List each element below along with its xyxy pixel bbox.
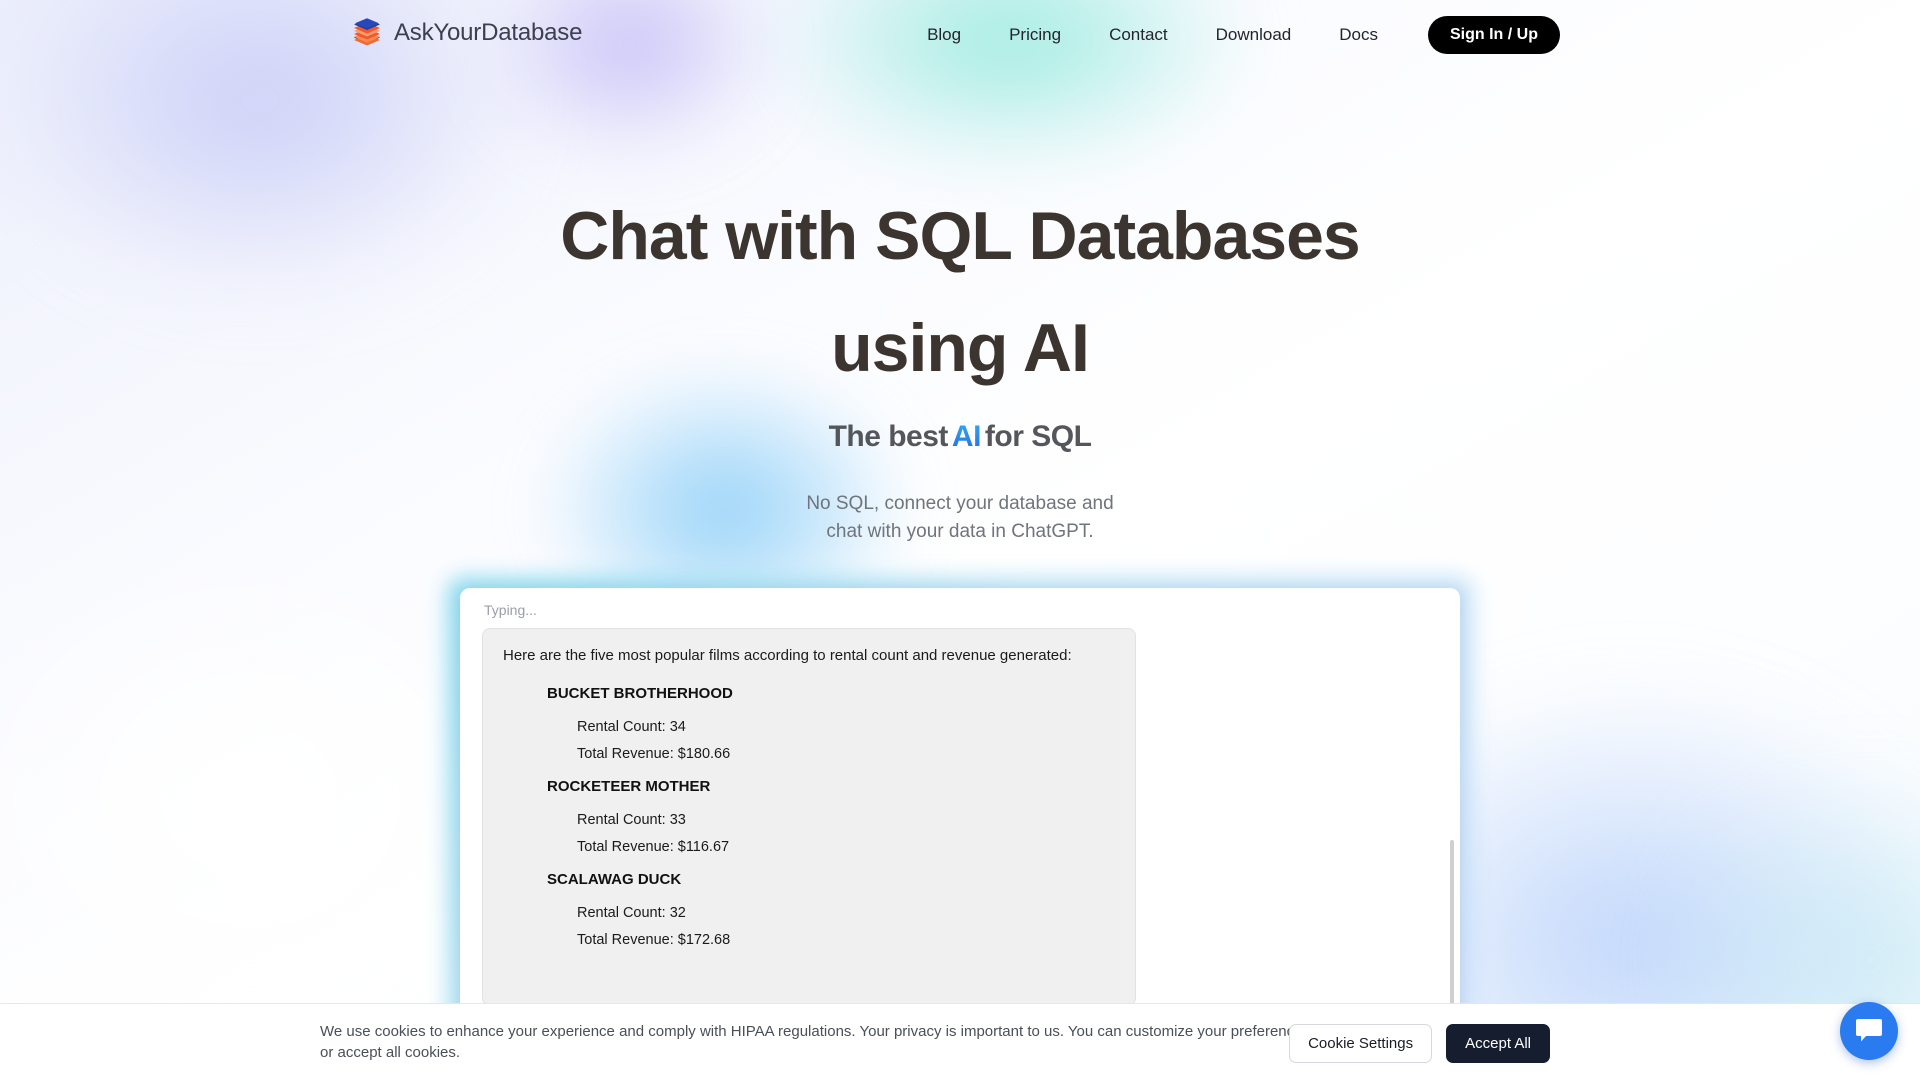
- film-result-item: BUCKET BROTHERHOOD Rental Count: 34 Tota…: [503, 685, 1115, 768]
- sign-in-up-button[interactable]: Sign In / Up: [1428, 16, 1560, 54]
- hero-tagline: The bestAIfor SQL: [0, 420, 1920, 454]
- film-rental-count: Rental Count: 33: [577, 807, 1115, 834]
- film-rental-count: Rental Count: 34: [577, 714, 1115, 741]
- film-title: ROCKETEER MOTHER: [547, 778, 1115, 795]
- hero-tagline-accent: AI: [948, 420, 985, 453]
- site-header: AskYourDatabase Blog Pricing Contact Dow…: [0, 0, 1920, 70]
- cookie-consent-actions: Cookie Settings Accept All: [1289, 1024, 1550, 1063]
- film-result-item: ROCKETEER MOTHER Rental Count: 33 Total …: [503, 778, 1115, 861]
- film-total-revenue: Total Revenue: $116.67: [577, 834, 1115, 861]
- film-result-item: SCALAWAG DUCK Rental Count: 32 Total Rev…: [503, 871, 1115, 954]
- page-title: Chat with SQL Databases using AI: [0, 180, 1920, 404]
- cookie-settings-button[interactable]: Cookie Settings: [1289, 1024, 1432, 1063]
- page-root: AskYourDatabase Blog Pricing Contact Dow…: [0, 0, 1920, 1080]
- assistant-answer-bubble: Here are the five most popular films acc…: [482, 628, 1136, 1006]
- main-nav: Blog Pricing Contact Download Docs Sign …: [903, 16, 1560, 54]
- hero-subtitle-line-2: chat with your data in ChatGPT.: [826, 521, 1093, 542]
- chat-widget-button[interactable]: [1840, 1002, 1898, 1060]
- cookie-consent-banner: We use cookies to enhance your experienc…: [0, 1003, 1920, 1080]
- nav-link-pricing[interactable]: Pricing: [985, 19, 1085, 51]
- hero-tagline-after: for SQL: [985, 420, 1092, 453]
- stacked-database-layers-icon: [352, 16, 382, 50]
- nav-link-docs[interactable]: Docs: [1315, 19, 1402, 51]
- brand-name: AskYourDatabase: [394, 19, 582, 47]
- film-title: SCALAWAG DUCK: [547, 871, 1115, 888]
- accept-all-cookies-button[interactable]: Accept All: [1446, 1024, 1550, 1063]
- hero-title-line-2: using AI: [0, 292, 1920, 404]
- hero-subtitle: No SQL, connect your database and chat w…: [0, 490, 1920, 546]
- cookie-consent-text: We use cookies to enhance your experienc…: [320, 1021, 1310, 1063]
- film-title: BUCKET BROTHERHOOD: [547, 685, 1115, 702]
- typing-status-label: Typing...: [484, 602, 537, 618]
- hero-subtitle-line-1: No SQL, connect your database and: [806, 493, 1113, 514]
- hero-title-line-1: Chat with SQL Databases: [560, 198, 1360, 274]
- hero-tagline-before: The best: [829, 420, 948, 453]
- nav-link-contact[interactable]: Contact: [1085, 19, 1192, 51]
- demo-chat-preview: Typing... Here are the five most popular…: [460, 588, 1460, 1028]
- film-rental-count: Rental Count: 32: [577, 900, 1115, 927]
- answer-intro-text: Here are the five most popular films acc…: [503, 645, 1115, 667]
- nav-link-download[interactable]: Download: [1192, 19, 1316, 51]
- film-total-revenue: Total Revenue: $180.66: [577, 741, 1115, 768]
- demo-card-scrollbar[interactable]: [1450, 840, 1454, 1018]
- nav-link-blog[interactable]: Blog: [903, 19, 985, 51]
- demo-chat-card[interactable]: Typing... Here are the five most popular…: [460, 588, 1460, 1028]
- film-total-revenue: Total Revenue: $172.68: [577, 927, 1115, 954]
- speech-bubble-icon: [1854, 1016, 1884, 1047]
- brand-logo-link[interactable]: AskYourDatabase: [352, 16, 582, 50]
